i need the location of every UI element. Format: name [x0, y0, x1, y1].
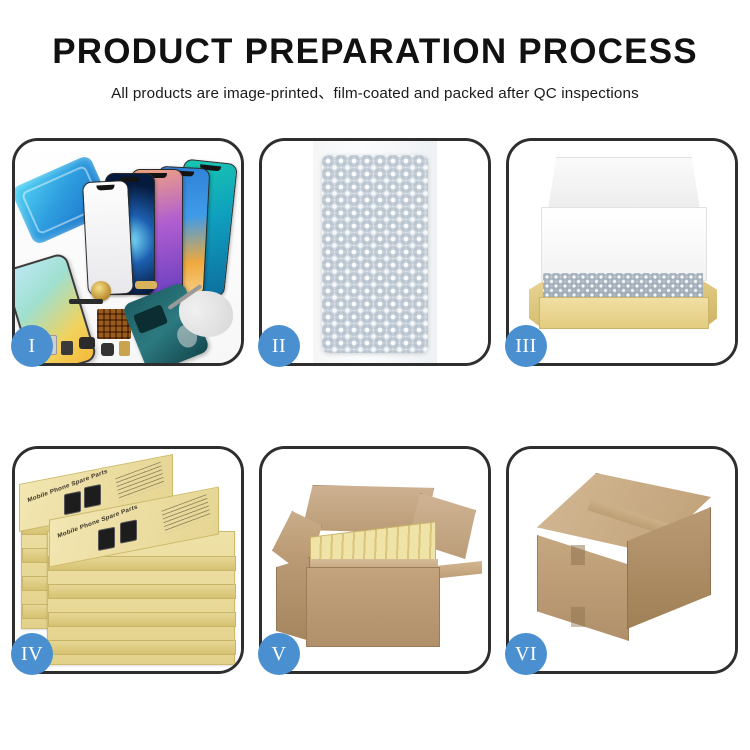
step-6-image	[509, 449, 735, 671]
box-front-panel-icon	[539, 297, 709, 329]
step-badge-5: V	[258, 633, 300, 675]
step-badge-3: III	[505, 325, 547, 367]
small-part-icon	[61, 341, 73, 355]
phone-white-icon	[82, 180, 134, 296]
bubble-wrap-icon	[322, 155, 428, 353]
carton-seam-lower	[571, 607, 585, 627]
sim-tray-icon	[119, 341, 130, 356]
step-3-image	[509, 141, 735, 363]
camera-module-icon	[79, 337, 95, 349]
box-phone-graphic	[120, 519, 137, 543]
bubble-wrapped-contents-icon	[543, 273, 703, 299]
step-2-image	[262, 141, 488, 363]
carton-front-face-icon	[306, 567, 440, 647]
header: PRODUCT PREPARATION PROCESS All products…	[0, 0, 750, 103]
box-lid-front-icon	[541, 207, 707, 281]
step-badge-6: VI	[505, 633, 547, 675]
step-badge-4: IV	[11, 633, 53, 675]
process-step-3: III	[506, 138, 738, 366]
process-step-grid: I II III	[12, 138, 738, 674]
notch-icon	[96, 185, 114, 191]
copper-coil-icon	[91, 281, 111, 301]
box-spec-lines	[115, 462, 164, 502]
process-step-5: V	[259, 446, 491, 674]
carton-seam-upper	[571, 545, 585, 565]
speaker-module-icon	[101, 343, 114, 356]
gold-connector-icon	[135, 281, 157, 289]
process-step-6: VI	[506, 446, 738, 674]
phone-fan-group	[93, 155, 241, 295]
step-1-image	[15, 141, 241, 363]
process-step-2: II	[259, 138, 491, 366]
page-title: PRODUCT PREPARATION PROCESS	[0, 34, 750, 69]
step-5-image	[262, 449, 488, 671]
step-badge-2: II	[258, 325, 300, 367]
process-step-1: I	[12, 138, 244, 366]
box-phone-graphic	[84, 484, 101, 508]
step-badge-1: I	[11, 325, 53, 367]
product-preparation-infographic: PRODUCT PREPARATION PROCESS All products…	[0, 0, 750, 750]
box-phone-graphic	[98, 527, 115, 551]
carton-left-side-icon	[276, 557, 310, 641]
page-subtitle: All products are image-printed、film-coat…	[0, 81, 750, 103]
step-4-image: Mobile Phone Spare Parts Mobile Phone Sp…	[15, 449, 241, 671]
process-step-4: Mobile Phone Spare Parts Mobile Phone Sp…	[12, 446, 244, 674]
box-spec-lines	[161, 494, 210, 534]
box-phone-graphic	[64, 491, 81, 515]
box-stack-group: Mobile Phone Spare Parts Mobile Phone Sp…	[19, 461, 241, 666]
flex-cable-icon	[69, 299, 103, 304]
